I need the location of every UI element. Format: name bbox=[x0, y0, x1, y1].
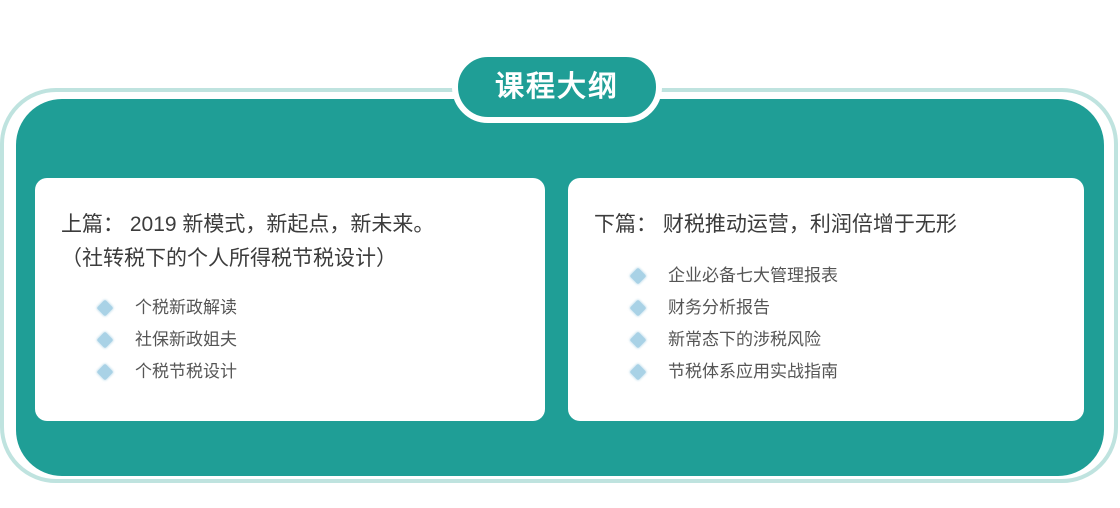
card-right-heading-line1: 下篇： 财税推动运营，利润倍增于无形 bbox=[594, 213, 957, 236]
card-left-heading-line1: 上篇： 2019 新模式，新起点，新未来。 bbox=[61, 213, 434, 236]
list-item[interactable]: 个税新政解读 bbox=[99, 292, 519, 323]
list-item[interactable]: 企业必备七大管理报表 bbox=[632, 260, 1058, 291]
list-item-label: 新常态下的涉税风险 bbox=[668, 331, 821, 348]
card-left-heading: 上篇： 2019 新模式，新起点，新未来。 （社转税下的个人所得税节税设计） bbox=[61, 208, 519, 276]
diamond-bullet-icon bbox=[97, 331, 114, 348]
list-item[interactable]: 个税节税设计 bbox=[99, 356, 519, 387]
list-item[interactable]: 新常态下的涉税风险 bbox=[632, 324, 1058, 355]
course-outline-banner: 课程大纲 上篇： 2019 新模式，新起点，新未来。 （社转税下的个人所得税节税… bbox=[0, 0, 1120, 508]
list-item-label: 企业必备七大管理报表 bbox=[668, 267, 838, 284]
list-item-label: 社保新政姐夫 bbox=[135, 331, 237, 348]
list-item-label: 节税体系应用实战指南 bbox=[668, 363, 838, 380]
diamond-bullet-icon bbox=[630, 267, 647, 284]
list-item[interactable]: 社保新政姐夫 bbox=[99, 324, 519, 355]
list-item-label: 财务分析报告 bbox=[668, 299, 770, 316]
section-title-badge: 课程大纲 bbox=[452, 51, 662, 123]
cards-container: 上篇： 2019 新模式，新起点，新未来。 （社转税下的个人所得税节税设计） 个… bbox=[35, 178, 1084, 421]
card-right-heading: 下篇： 财税推动运营，利润倍增于无形 bbox=[594, 208, 1058, 242]
list-item-label: 个税节税设计 bbox=[135, 363, 237, 380]
outline-card-right: 下篇： 财税推动运营，利润倍增于无形 企业必备七大管理报表 财务分析报告 新常态… bbox=[568, 178, 1084, 421]
diamond-bullet-icon bbox=[630, 363, 647, 380]
diamond-bullet-icon bbox=[97, 299, 114, 316]
list-item[interactable]: 财务分析报告 bbox=[632, 292, 1058, 323]
diamond-bullet-icon bbox=[97, 363, 114, 380]
diamond-bullet-icon bbox=[630, 299, 647, 316]
card-left-heading-line2: （社转税下的个人所得税节税设计） bbox=[61, 242, 519, 276]
outline-card-left: 上篇： 2019 新模式，新起点，新未来。 （社转税下的个人所得税节税设计） 个… bbox=[35, 178, 545, 421]
list-item-label: 个税新政解读 bbox=[135, 299, 237, 316]
card-left-bullet-list: 个税新政解读 社保新政姐夫 个税节税设计 bbox=[61, 292, 519, 387]
list-item[interactable]: 节税体系应用实战指南 bbox=[632, 356, 1058, 387]
section-title-text: 课程大纲 bbox=[495, 73, 619, 102]
card-right-bullet-list: 企业必备七大管理报表 财务分析报告 新常态下的涉税风险 节税体系应用实战指南 bbox=[594, 260, 1058, 387]
diamond-bullet-icon bbox=[630, 331, 647, 348]
